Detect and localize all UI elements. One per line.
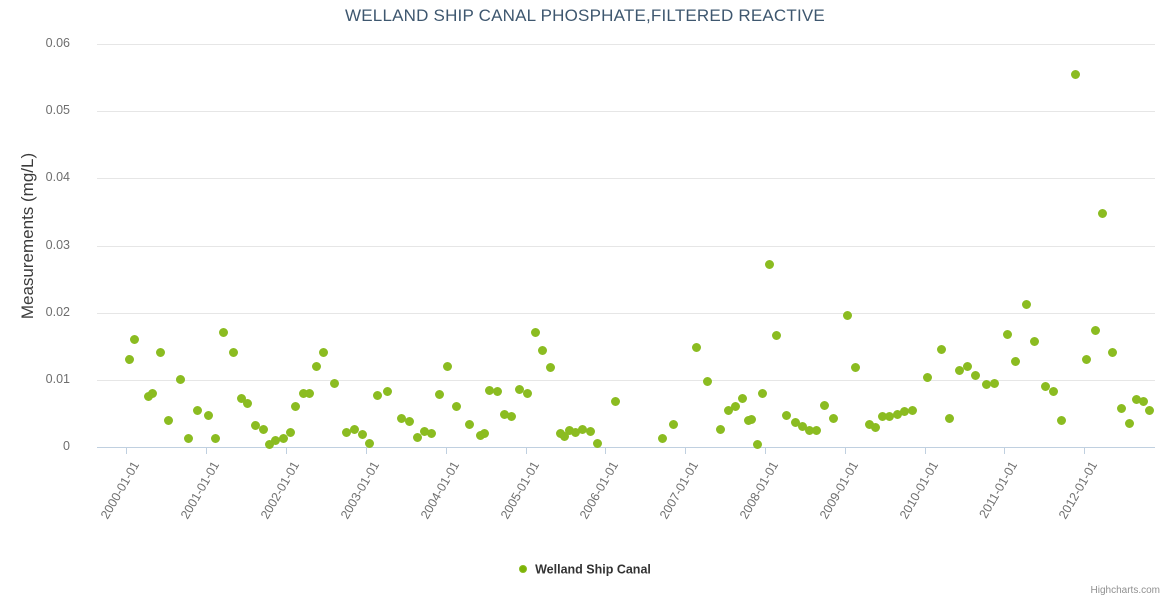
data-point[interactable]: [243, 399, 252, 408]
data-point[interactable]: [703, 377, 712, 386]
data-point[interactable]: [812, 426, 821, 435]
data-point[interactable]: [692, 343, 701, 352]
data-point[interactable]: [176, 375, 185, 384]
data-point[interactable]: [937, 345, 946, 354]
data-point[interactable]: [427, 429, 436, 438]
data-point[interactable]: [1057, 416, 1066, 425]
x-axis-tick-label: 2003-01-01: [331, 459, 382, 534]
data-point[interactable]: [1125, 419, 1134, 428]
data-point[interactable]: [204, 411, 213, 420]
data-point[interactable]: [286, 428, 295, 437]
data-point[interactable]: [1082, 355, 1091, 364]
y-axis-tick-label: 0: [10, 439, 70, 453]
data-point[interactable]: [259, 425, 268, 434]
data-point[interactable]: [373, 391, 382, 400]
data-point[interactable]: [731, 402, 740, 411]
x-axis-tick-label: 2001-01-01: [171, 459, 222, 534]
data-point[interactable]: [383, 387, 392, 396]
x-axis-tick-label: 2002-01-01: [251, 459, 302, 534]
data-point[interactable]: [1145, 406, 1154, 415]
x-axis-tick-label: 2007-01-01: [650, 459, 701, 534]
data-point[interactable]: [546, 363, 555, 372]
data-point[interactable]: [586, 427, 595, 436]
data-point[interactable]: [1030, 337, 1039, 346]
data-point[interactable]: [1003, 330, 1012, 339]
data-point[interactable]: [507, 412, 516, 421]
data-point[interactable]: [130, 335, 139, 344]
x-axis-tick: [1004, 447, 1005, 454]
data-point[interactable]: [193, 406, 202, 415]
data-point[interactable]: [164, 416, 173, 425]
y-gridline: [97, 44, 1155, 45]
data-point[interactable]: [1108, 348, 1117, 357]
data-point[interactable]: [772, 331, 781, 340]
data-point[interactable]: [669, 420, 678, 429]
x-axis-tick: [206, 447, 207, 454]
plot-area: 00.010.020.030.040.050.062000-01-012001-…: [97, 44, 1155, 447]
x-axis-tick-label: 2012-01-01: [1049, 459, 1100, 534]
legend-item-label: Welland Ship Canal: [535, 563, 651, 577]
y-gridline: [97, 178, 1155, 179]
x-axis-tick-label: 2008-01-01: [730, 459, 781, 534]
y-axis-tick-label: 0.02: [10, 305, 70, 319]
data-point[interactable]: [443, 362, 452, 371]
data-point[interactable]: [305, 389, 314, 398]
data-point[interactable]: [829, 414, 838, 423]
data-point[interactable]: [148, 389, 157, 398]
data-point[interactable]: [480, 429, 489, 438]
y-axis-tick-label: 0.06: [10, 36, 70, 50]
data-point[interactable]: [435, 390, 444, 399]
data-point[interactable]: [405, 417, 414, 426]
y-gridline: [97, 111, 1155, 112]
data-point[interactable]: [452, 402, 461, 411]
data-point[interactable]: [330, 379, 339, 388]
x-axis-tick: [1084, 447, 1085, 454]
data-point[interactable]: [963, 362, 972, 371]
x-axis-tick: [446, 447, 447, 454]
data-point[interactable]: [125, 355, 134, 364]
data-point[interactable]: [319, 348, 328, 357]
data-point[interactable]: [747, 415, 756, 424]
data-point[interactable]: [990, 379, 999, 388]
data-point[interactable]: [923, 373, 932, 382]
chart-title: WELLAND SHIP CANAL PHOSPHATE,FILTERED RE…: [0, 6, 1170, 26]
x-axis-tick: [366, 447, 367, 454]
y-axis-tick-label: 0.04: [10, 170, 70, 184]
data-point[interactable]: [782, 411, 791, 420]
x-axis-tick: [765, 447, 766, 454]
data-point[interactable]: [156, 348, 165, 357]
x-axis-tick: [126, 447, 127, 454]
data-point[interactable]: [219, 328, 228, 337]
data-point[interactable]: [523, 389, 532, 398]
data-point[interactable]: [753, 440, 762, 449]
x-axis-tick: [605, 447, 606, 454]
data-point[interactable]: [716, 425, 725, 434]
data-point[interactable]: [611, 397, 620, 406]
data-point[interactable]: [312, 362, 321, 371]
y-gridline: [97, 313, 1155, 314]
y-axis-tick-label: 0.01: [10, 372, 70, 386]
x-axis-tick-label: 2004-01-01: [411, 459, 462, 534]
data-point[interactable]: [1098, 209, 1107, 218]
legend-item-welland-ship-canal[interactable]: Welland Ship Canal: [519, 562, 651, 576]
data-point[interactable]: [658, 434, 667, 443]
highcharts-credit: Highcharts.com: [1091, 585, 1160, 596]
data-point[interactable]: [493, 387, 502, 396]
y-axis-tick-label: 0.03: [10, 238, 70, 252]
legend-marker-icon: [519, 565, 527, 573]
x-axis-tick: [845, 447, 846, 454]
x-axis-tick-label: 2009-01-01: [810, 459, 861, 534]
x-axis-tick-label: 2010-01-01: [890, 459, 941, 534]
data-point[interactable]: [1011, 357, 1020, 366]
x-axis-tick-label: 2006-01-01: [570, 459, 621, 534]
data-point[interactable]: [945, 414, 954, 423]
chart-container: WELLAND SHIP CANAL PHOSPHATE,FILTERED RE…: [0, 0, 1170, 600]
data-point[interactable]: [538, 346, 547, 355]
x-axis-tick-label: 2000-01-01: [91, 459, 142, 534]
data-point[interactable]: [758, 389, 767, 398]
data-point[interactable]: [908, 406, 917, 415]
data-point[interactable]: [1071, 70, 1080, 79]
data-point[interactable]: [1091, 326, 1100, 335]
data-point[interactable]: [291, 402, 300, 411]
data-point[interactable]: [851, 363, 860, 372]
x-axis-line: [97, 447, 1155, 448]
chart-legend: Welland Ship Canal: [0, 562, 1170, 577]
data-point[interactable]: [465, 420, 474, 429]
x-axis-tick-label: 2005-01-01: [491, 459, 542, 534]
x-axis-tick: [286, 447, 287, 454]
data-point[interactable]: [1139, 397, 1148, 406]
data-point[interactable]: [211, 434, 220, 443]
x-axis-tick: [685, 447, 686, 454]
data-point[interactable]: [843, 311, 852, 320]
data-point[interactable]: [971, 371, 980, 380]
data-point[interactable]: [184, 434, 193, 443]
y-gridline: [97, 246, 1155, 247]
data-point[interactable]: [229, 348, 238, 357]
data-point[interactable]: [738, 394, 747, 403]
data-point[interactable]: [1049, 387, 1058, 396]
data-point[interactable]: [765, 260, 774, 269]
data-point[interactable]: [358, 430, 367, 439]
y-axis-tick-label: 0.05: [10, 103, 70, 117]
x-axis-tick: [526, 447, 527, 454]
data-point[interactable]: [531, 328, 540, 337]
data-point[interactable]: [820, 401, 829, 410]
data-point[interactable]: [871, 423, 880, 432]
data-point[interactable]: [1022, 300, 1031, 309]
x-axis-tick-label: 2011-01-01: [969, 459, 1020, 534]
data-point[interactable]: [1117, 404, 1126, 413]
x-axis-tick: [925, 447, 926, 454]
